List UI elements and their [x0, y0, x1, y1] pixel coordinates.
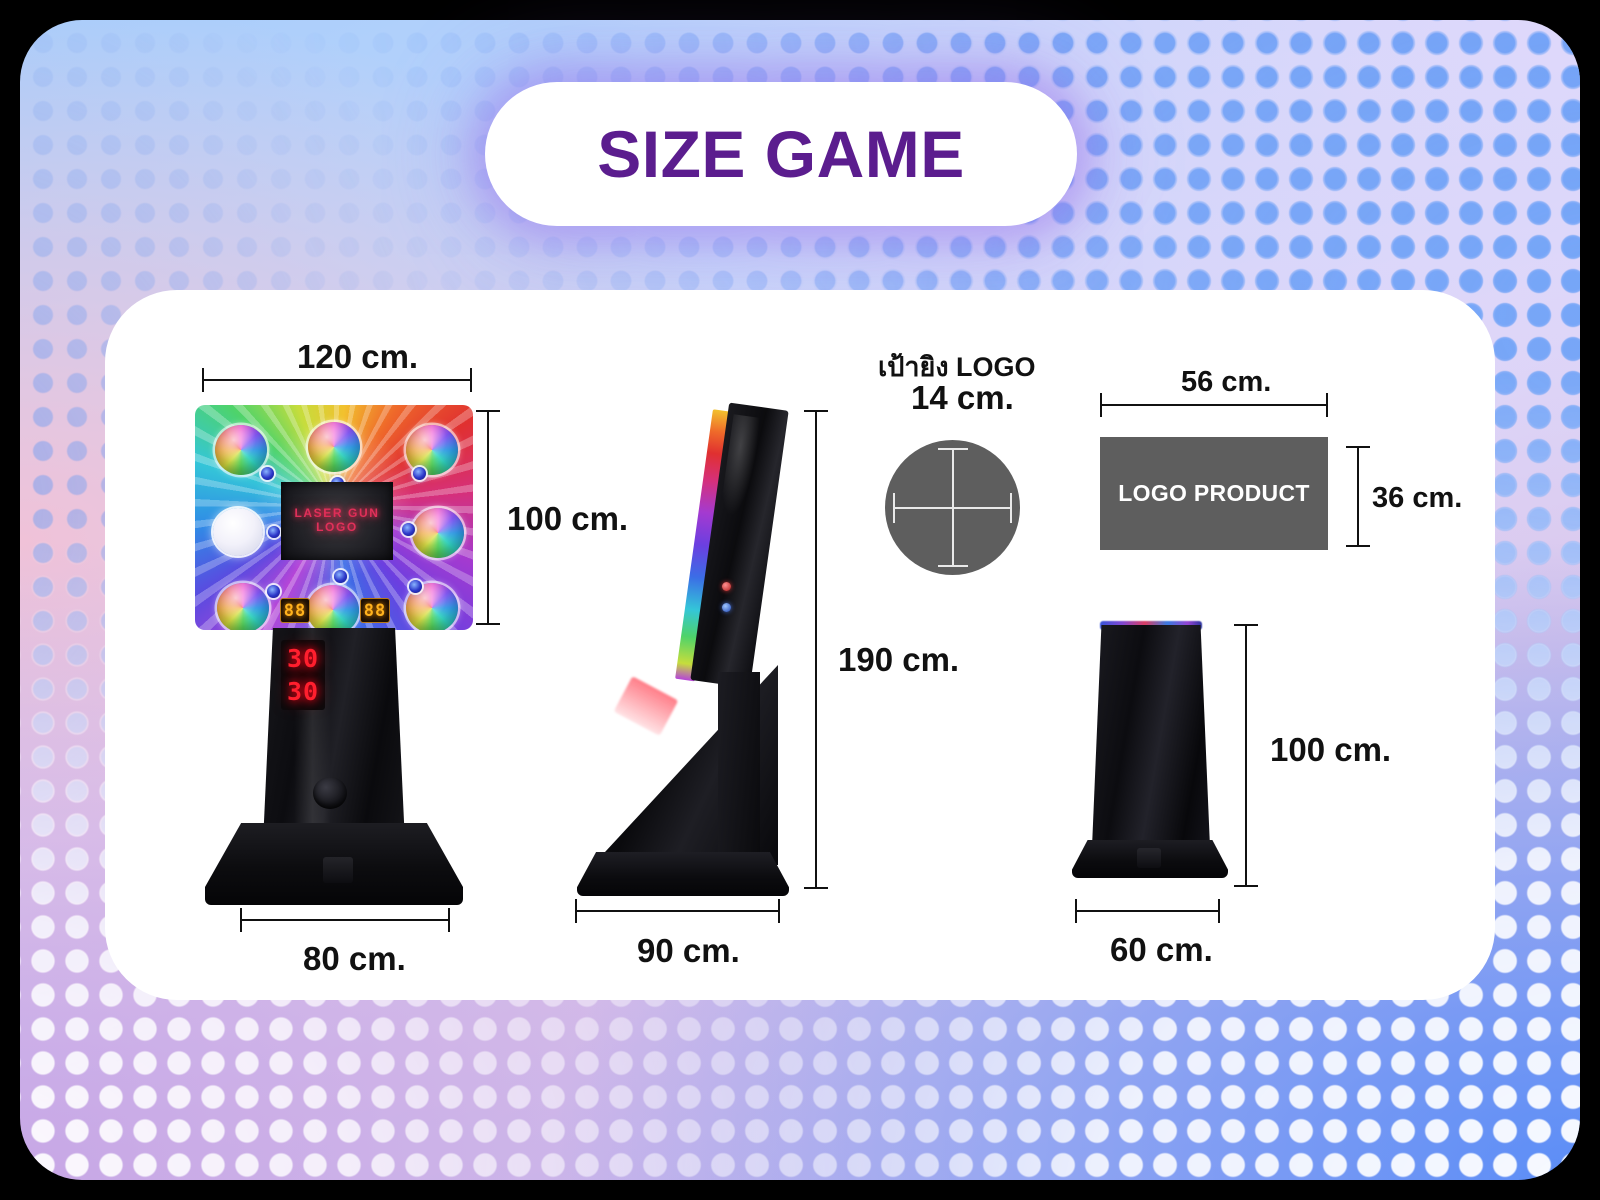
back-height-label: 100 cm.	[1270, 731, 1391, 769]
segment-display-left: 88	[280, 598, 310, 623]
front-base-label: 80 cm.	[303, 940, 406, 978]
crosshair-horizontal-line	[893, 507, 1012, 509]
logo-product-width-dimension-line	[1100, 404, 1328, 406]
screen-line-two: LOGO	[316, 521, 358, 535]
side-base-label: 90 cm.	[637, 932, 740, 970]
logo-product-height-dimension-line	[1357, 446, 1359, 547]
base-lock-plate	[323, 857, 353, 883]
side-view-machine	[575, 400, 790, 900]
back-base-lock-plate	[1137, 848, 1161, 868]
led-indicator-lower-right	[409, 580, 422, 593]
side-height-label: 190 cm.	[838, 641, 959, 679]
logo-product-width-label: 56 cm.	[1181, 366, 1271, 399]
front-base-dimension-line	[240, 919, 450, 921]
side-panel-gloss	[720, 414, 761, 518]
crosshair-cap-top	[938, 448, 968, 450]
front-panel-graphic: LASER GUN LOGO 88 88	[195, 405, 473, 630]
poster-canvas: SIZE GAME 120 cm. 100 cm. 80 cm.	[0, 0, 1600, 1200]
back-view-machine	[1070, 615, 1230, 880]
front-height-dimension-line	[487, 410, 489, 625]
front-width-dimension-line	[202, 379, 472, 381]
crosshair-cap-right	[1010, 493, 1012, 523]
side-support-post	[718, 672, 760, 868]
led-indicator-upper-left	[261, 467, 274, 480]
score-display-top: 30	[287, 644, 319, 673]
panel-logo-screen: LASER GUN LOGO	[281, 482, 393, 560]
score-display-panel: 30 30	[281, 640, 325, 710]
screen-line-one: LASER GUN	[294, 507, 379, 521]
target-button-middle-right[interactable]	[412, 508, 464, 558]
front-width-label: 120 cm.	[297, 338, 418, 376]
side-button-blue[interactable]	[722, 603, 731, 612]
target-button-bottom-center[interactable]	[307, 585, 359, 630]
logo-product-label: LOGO PRODUCT	[1118, 480, 1309, 507]
target-diameter-label: 14 cm.	[911, 379, 1014, 417]
target-button-top-right[interactable]	[406, 425, 458, 475]
page-title: SIZE GAME	[597, 116, 965, 192]
side-base-dimension-line	[575, 910, 780, 912]
back-machine-column	[1092, 625, 1210, 847]
target-button-top-center[interactable]	[308, 422, 360, 472]
led-indicator-middle-left	[268, 526, 280, 538]
target-button-bottom-left[interactable]	[217, 583, 269, 630]
target-button-middle-left[interactable]	[213, 508, 263, 556]
side-base-plate	[577, 852, 789, 896]
segment-display-right: 88	[360, 598, 390, 623]
back-base-label: 60 cm.	[1110, 931, 1213, 969]
led-indicator-middle-right	[402, 523, 415, 536]
led-indicator-upper-right	[413, 467, 426, 480]
crosshair-cap-bottom	[938, 565, 968, 567]
side-score-glow	[614, 676, 679, 736]
title-pill: SIZE GAME	[485, 82, 1077, 226]
front-view-machine: LASER GUN LOGO 88 88 30 30	[195, 405, 485, 910]
side-button-red[interactable]	[722, 582, 731, 591]
crosshair-cap-left	[893, 493, 895, 523]
side-height-dimension-line	[815, 410, 817, 889]
logo-product-height-label: 36 cm.	[1372, 482, 1462, 515]
back-height-dimension-line	[1245, 624, 1247, 887]
column-speaker-knob	[313, 777, 347, 809]
logo-product-placeholder: LOGO PRODUCT	[1100, 437, 1328, 550]
back-base-dimension-line	[1075, 910, 1220, 912]
led-indicator-lower-center	[334, 570, 347, 583]
led-indicator-lower-left	[267, 585, 280, 598]
shooting-target-graphic	[885, 440, 1020, 575]
target-button-top-left[interactable]	[215, 425, 267, 475]
score-display-bottom: 30	[287, 677, 319, 706]
